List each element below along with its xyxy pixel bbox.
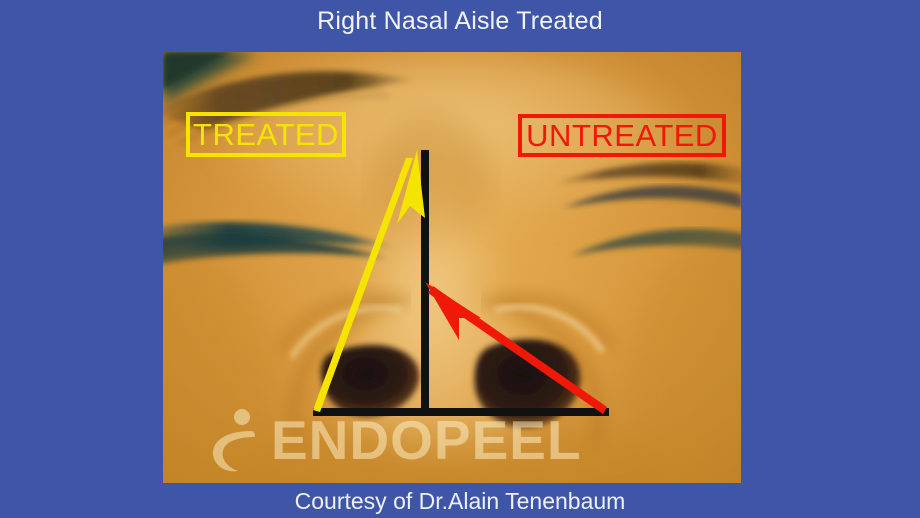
- clinical-photo: ENDOPEEL TREATED UNTREATED: [163, 52, 741, 483]
- untreated-label-box: UNTREATED: [518, 114, 726, 157]
- treated-label-text: TREATED: [193, 117, 339, 153]
- treated-label-box: TREATED: [186, 112, 346, 157]
- presentation-slide: Right Nasal Aisle Treated: [0, 0, 920, 518]
- untreated-label-text: UNTREATED: [526, 118, 718, 154]
- photo-credit-caption: Courtesy of Dr.Alain Tenenbaum: [0, 486, 920, 516]
- page-title: Right Nasal Aisle Treated: [0, 4, 920, 38]
